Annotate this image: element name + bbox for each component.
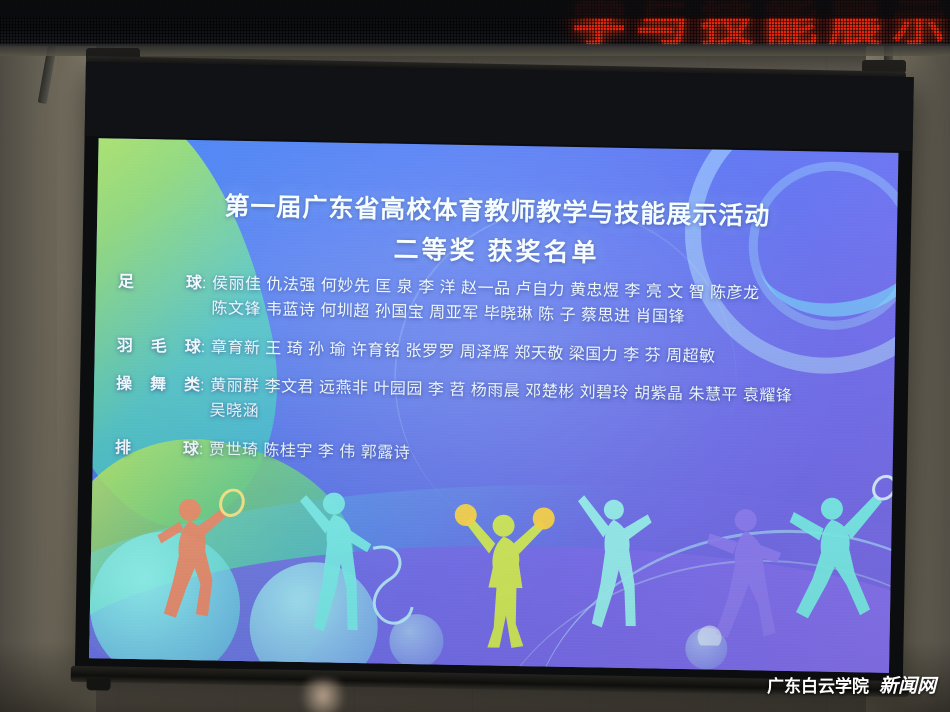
award-row-dance: 操舞类 : 黄丽群 李文君 远燕非 叶园园 李 苕 杨雨晨 邓楚彬 刘碧玲 胡紫… bbox=[115, 373, 876, 437]
screen-matte-top bbox=[85, 62, 914, 151]
award-colon: : bbox=[202, 272, 212, 297]
award-names: 章育新 王 琦 孙 瑜 许育铭 张罗罗 周泽辉 郑天敬 梁国力 李 芬 周超敏 bbox=[211, 336, 877, 373]
award-names: 贾世琦 陈桂宇 李 伟 郭露诗 bbox=[209, 438, 875, 475]
award-colon: : bbox=[199, 438, 209, 463]
award-category-label: 羽毛球 bbox=[117, 334, 201, 360]
award-colon: : bbox=[200, 375, 210, 400]
photo-scene: 学与技能展示 bbox=[0, 0, 950, 712]
watermark-site: 新闻网 bbox=[879, 671, 936, 698]
award-row-badminton: 羽毛球 : 章育新 王 琦 孙 瑜 许育铭 张罗罗 周泽辉 郑天敬 梁国力 李 … bbox=[117, 334, 877, 373]
award-row-football: 足球 : 侯丽佳 仇法强 何妙先 匡 泉 李 洋 赵一品 卢自力 黄忠煜 李 亮… bbox=[117, 271, 878, 335]
screen-pull-knob bbox=[86, 678, 110, 690]
projected-slide: 第一届广东省高校体育教师教学与技能展示活动 二等奖 获奖名单 足球 : 侯丽佳 … bbox=[89, 138, 898, 673]
slide-text-block: 第一届广东省高校体育教师教学与技能展示活动 二等奖 获奖名单 足球 : 侯丽佳 … bbox=[89, 138, 898, 673]
ceiling-edge bbox=[0, 0, 950, 18]
award-category-label: 排球 bbox=[115, 437, 199, 463]
award-line: 羽毛球 : 章育新 王 琦 孙 瑜 许育铭 张罗罗 周泽辉 郑天敬 梁国力 李 … bbox=[117, 334, 877, 373]
banner-underside bbox=[0, 44, 950, 56]
award-colon: : bbox=[201, 336, 211, 361]
award-row-volleyball: 排球 : 贾世琦 陈桂宇 李 伟 郭露诗 bbox=[115, 437, 875, 476]
projection-screen: 第一届广东省高校体育教师教学与技能展示活动 二等奖 获奖名单 足球 : 侯丽佳 … bbox=[75, 62, 914, 687]
foreground-blur-object bbox=[300, 678, 346, 712]
award-category-label: 足球 bbox=[118, 271, 202, 297]
watermark: 广东白云学院 新闻网 bbox=[767, 671, 936, 698]
award-category-label: 操舞类 bbox=[116, 373, 200, 399]
watermark-institution: 广东白云学院 bbox=[767, 672, 869, 697]
award-list: 足球 : 侯丽佳 仇法强 何妙先 匡 泉 李 洋 赵一品 卢自力 黄忠煜 李 亮… bbox=[114, 271, 878, 490]
award-line: 排球 : 贾世琦 陈桂宇 李 伟 郭露诗 bbox=[115, 437, 875, 476]
